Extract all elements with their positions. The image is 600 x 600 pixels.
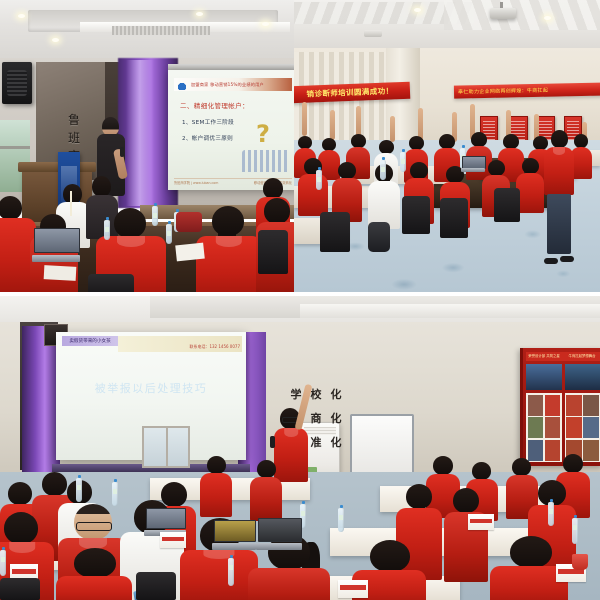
calligraphy-char: 化 bbox=[331, 386, 342, 402]
photo-panel-bottom: 卖假货带来的小女孩 联系电话：132 1456 0077 被举报以后处理技巧 学… bbox=[0, 296, 600, 600]
classroom-scene-top-left: 鲁 班 商 学 院 加盟商家 移动营销15%的业绩的用户 二、精细化管理帐户： … bbox=[0, 0, 294, 292]
office-chair bbox=[258, 230, 288, 274]
tent-card-stripe bbox=[340, 585, 365, 590]
purple-wall-light bbox=[22, 326, 60, 481]
name-tent-card bbox=[468, 514, 494, 530]
water-bottle bbox=[400, 152, 406, 172]
board-column bbox=[526, 364, 562, 462]
ceiling-vent bbox=[112, 26, 210, 35]
question-mark-icon: ? bbox=[256, 122, 270, 146]
water-bottle bbox=[548, 502, 554, 526]
attendee-head bbox=[406, 484, 432, 509]
bottle-cap bbox=[574, 515, 577, 518]
calligraphy-char: 化 bbox=[331, 434, 342, 450]
photo-cell bbox=[566, 417, 582, 438]
water-bottle bbox=[104, 220, 110, 240]
attendee-head bbox=[410, 162, 428, 179]
photo-panel-top-right: 销诊断师培训圆满成功！ 奉仁助力企业网络再创辉煌：牛商扛起 bbox=[294, 0, 600, 292]
water-bottle bbox=[152, 206, 158, 226]
photo-cell bbox=[545, 395, 561, 416]
downlight-icon bbox=[52, 38, 59, 42]
crowd-illustration bbox=[242, 150, 290, 172]
calligraphy-char: 准 bbox=[311, 434, 322, 450]
bottle-cap bbox=[550, 499, 553, 502]
attendee bbox=[200, 456, 232, 514]
slide-title: 二、精细化管理帐户： bbox=[180, 100, 249, 110]
notebook bbox=[44, 265, 77, 281]
bottle-cap bbox=[302, 501, 305, 504]
bottle-cap bbox=[402, 149, 405, 152]
water-bottle bbox=[112, 482, 118, 506]
photo-cell bbox=[528, 395, 544, 416]
projection-screen: 加盟商家 移动营销15%的业绩的用户 二、精细化管理帐户： 1、SEM工作三阶段… bbox=[168, 70, 294, 190]
office-chair bbox=[88, 274, 134, 292]
classroom-scene-bottom: 卖假货带来的小女孩 联系电话：132 1456 0077 被举报以后处理技巧 学… bbox=[0, 296, 600, 600]
bottle-cap bbox=[2, 547, 5, 550]
attendee bbox=[444, 488, 488, 580]
attendee-body bbox=[196, 236, 262, 292]
raised-arm bbox=[330, 110, 335, 140]
ceiling-speaker-icon bbox=[2, 62, 32, 104]
photo-panel bbox=[565, 393, 600, 462]
laptop-base bbox=[256, 543, 301, 550]
name-tent-card bbox=[160, 532, 186, 548]
attendee-head bbox=[379, 140, 394, 154]
office-chair bbox=[494, 188, 520, 222]
bottle-cap bbox=[168, 221, 171, 224]
slide-bullet: 2、帐户调优三原则 bbox=[182, 134, 233, 142]
bottle-cap bbox=[106, 217, 109, 220]
trainer-shoe bbox=[560, 256, 574, 262]
calligraphy-char: 商 bbox=[311, 410, 322, 426]
purple-glow bbox=[126, 60, 154, 206]
board-photo-grid bbox=[526, 364, 600, 462]
handbag bbox=[176, 212, 202, 232]
downlight-icon bbox=[196, 12, 203, 16]
banner-left-text: 销诊断师培训圆满成功！ bbox=[306, 85, 393, 99]
calligraphy-char: 校 bbox=[311, 386, 322, 402]
laptop-screen bbox=[214, 520, 256, 542]
office-chair bbox=[440, 198, 468, 238]
slide-tab-text: 卖假货带来的小女孩 bbox=[69, 338, 110, 344]
ceiling-slab bbox=[300, 304, 600, 318]
attendee-head bbox=[92, 176, 111, 197]
name-tent-card bbox=[338, 580, 368, 598]
bottle-cap bbox=[318, 167, 321, 170]
shirt-collar bbox=[9, 542, 35, 553]
trainer-shoe bbox=[544, 258, 558, 264]
water-bottle bbox=[316, 170, 322, 190]
ceiling-grid bbox=[444, 0, 600, 30]
calligraphy-char: 化 bbox=[331, 410, 342, 426]
attendee-head bbox=[212, 206, 244, 236]
attendee-head bbox=[351, 134, 366, 148]
shirt-collar bbox=[284, 428, 298, 437]
office-chair bbox=[136, 572, 176, 600]
slide-artwork: ? bbox=[242, 122, 290, 172]
trainer-body bbox=[544, 147, 574, 195]
board-header: 荣誉设计部 共筑之星 牛商扛起梦想舞台 bbox=[526, 352, 600, 361]
laptop bbox=[462, 156, 484, 172]
backpack bbox=[368, 222, 390, 252]
laptop bbox=[34, 228, 78, 262]
attendee-head bbox=[409, 136, 424, 150]
attendee-body bbox=[180, 550, 258, 600]
photo-cell bbox=[528, 417, 544, 438]
lanyard bbox=[70, 191, 72, 216]
attendee-head bbox=[453, 488, 479, 513]
tent-card-stripe bbox=[12, 569, 36, 573]
attendee-head bbox=[574, 134, 588, 148]
banner-right-text: 奉仁助力企业网络再创辉煌：牛商扛起 bbox=[458, 87, 548, 96]
bottle-cap bbox=[462, 145, 465, 148]
laptop bbox=[258, 518, 300, 550]
photo-panel bbox=[526, 393, 562, 462]
laptop-screen bbox=[258, 518, 302, 542]
attendee bbox=[298, 158, 328, 214]
photo-collage: 鲁 班 商 学 院 加盟商家 移动营销15%的业绩的用户 二、精细化管理帐户： … bbox=[0, 0, 600, 600]
attendee-head bbox=[472, 462, 491, 480]
projector-icon bbox=[364, 30, 382, 37]
downlight-icon bbox=[544, 16, 551, 20]
bottle-cap bbox=[230, 555, 233, 558]
attendee-head bbox=[63, 184, 82, 204]
laptop-screen bbox=[34, 228, 80, 253]
office-chair bbox=[320, 212, 350, 252]
trainer-head bbox=[551, 130, 568, 148]
office-chair bbox=[0, 578, 40, 600]
bottle-cap bbox=[78, 475, 81, 478]
attendee-body bbox=[56, 576, 132, 600]
attendee-head bbox=[0, 196, 22, 220]
attendee-body bbox=[200, 473, 232, 517]
slide-bullet: 1、SEM工作三阶段 bbox=[182, 118, 234, 126]
attendee-head bbox=[338, 162, 356, 179]
attendee-head bbox=[510, 536, 552, 568]
slide-header: 加盟商家 移动营销15%的业绩的用户 bbox=[174, 78, 292, 91]
laptop-base bbox=[212, 543, 255, 550]
microphone-icon bbox=[270, 436, 275, 448]
water-bottle bbox=[380, 160, 386, 180]
microphone-icon bbox=[120, 147, 124, 157]
classroom-scene-top-right: 销诊断师培训圆满成功！ 奉仁助力企业网络再创辉煌：牛商扛起 bbox=[294, 0, 600, 292]
attendee bbox=[250, 460, 282, 518]
photo-cell bbox=[583, 395, 599, 416]
photo-cell bbox=[566, 395, 582, 416]
attendee-head bbox=[563, 454, 583, 473]
office-chair bbox=[402, 196, 430, 234]
attendee-head bbox=[512, 458, 531, 476]
attendee-glasses-icon bbox=[76, 522, 112, 531]
calligraphy-char: 鲁 bbox=[68, 114, 80, 126]
laptop bbox=[214, 520, 254, 550]
shirt-collar bbox=[117, 236, 145, 247]
tent-card-stripe bbox=[558, 569, 583, 574]
attendee-head bbox=[4, 512, 38, 544]
slide-header-text: 加盟商家 移动营销15%的业绩的用户 bbox=[191, 82, 264, 88]
shirt-collar bbox=[216, 236, 242, 247]
attendee-head bbox=[433, 456, 453, 475]
water-bottle bbox=[338, 508, 344, 532]
attendee-head bbox=[522, 158, 539, 174]
attendee-body bbox=[298, 174, 328, 216]
slide-contact-text: 联系电话：132 1456 0077 bbox=[189, 344, 240, 350]
board-column bbox=[565, 364, 600, 462]
laptop-screen bbox=[462, 156, 486, 169]
projector-icon bbox=[490, 8, 516, 19]
attendee-body bbox=[516, 173, 544, 213]
whiteboard bbox=[350, 414, 414, 474]
attendee-head bbox=[207, 456, 226, 474]
attendee-head bbox=[8, 482, 32, 505]
group-photo bbox=[526, 364, 562, 390]
attendee-head bbox=[503, 134, 519, 149]
downlight-icon bbox=[414, 8, 421, 12]
paper-cup bbox=[572, 554, 588, 570]
attendee bbox=[196, 206, 262, 292]
laptop-screen bbox=[146, 508, 186, 529]
downlight-icon bbox=[18, 14, 25, 18]
slide-tab: 卖假货带来的小女孩 bbox=[62, 336, 118, 346]
photo-cell bbox=[583, 417, 599, 438]
slide-footer-left: 鲁班商学院 | www.luban.com bbox=[174, 180, 218, 185]
attendee-head bbox=[370, 540, 410, 572]
tent-card-stripe bbox=[470, 519, 492, 523]
board-header-left: 荣誉设计部 共筑之星 bbox=[526, 352, 562, 361]
raised-arm bbox=[302, 102, 307, 136]
water-bottle bbox=[76, 478, 82, 502]
trainer-standing bbox=[544, 130, 574, 260]
slide-center-text: 被举报以后处理技巧 bbox=[56, 380, 246, 396]
attendee-head bbox=[74, 548, 116, 578]
laptop-base bbox=[461, 168, 485, 172]
attendee bbox=[516, 158, 544, 212]
water-bottle bbox=[0, 550, 6, 576]
attendee-head bbox=[114, 208, 146, 238]
trainer-trousers bbox=[547, 194, 571, 254]
board-header-right: 牛商扛起梦想舞台 bbox=[564, 352, 600, 361]
tent-card-stripe bbox=[162, 537, 184, 541]
attendee-body bbox=[248, 568, 330, 600]
attendee-head bbox=[471, 132, 487, 147]
attendee-head bbox=[257, 460, 276, 478]
water-bottle bbox=[166, 224, 172, 244]
slide-logo-icon bbox=[176, 80, 188, 90]
downlight-icon bbox=[262, 22, 269, 26]
raised-arm bbox=[390, 116, 395, 142]
shirt-collar bbox=[553, 147, 565, 155]
room-window bbox=[142, 426, 190, 468]
attendee-body bbox=[250, 477, 282, 521]
bottle-cap bbox=[340, 505, 343, 508]
bottle-cap bbox=[154, 203, 157, 206]
attendee-head bbox=[264, 198, 290, 224]
water-bottle bbox=[572, 518, 578, 544]
attendee-head bbox=[263, 178, 283, 199]
bottle-cap bbox=[114, 479, 117, 482]
laptop-base bbox=[32, 255, 80, 262]
notebook bbox=[175, 243, 205, 262]
attendee bbox=[56, 548, 132, 600]
photo-display-board: 荣誉设计部 共筑之星 牛商扛起梦想舞台 bbox=[520, 348, 600, 466]
photo-panel-top-left: 鲁 班 商 学 院 加盟商家 移动营销15%的业绩的用户 二、精细化管理帐户： … bbox=[0, 0, 294, 292]
water-bottle bbox=[228, 558, 234, 586]
bottle-cap bbox=[382, 157, 385, 160]
attendee-head bbox=[488, 160, 505, 176]
group-photo bbox=[565, 364, 600, 390]
photo-cell bbox=[545, 417, 561, 438]
calligraphy-char: 班 bbox=[68, 132, 80, 144]
attendee-head bbox=[439, 134, 455, 149]
